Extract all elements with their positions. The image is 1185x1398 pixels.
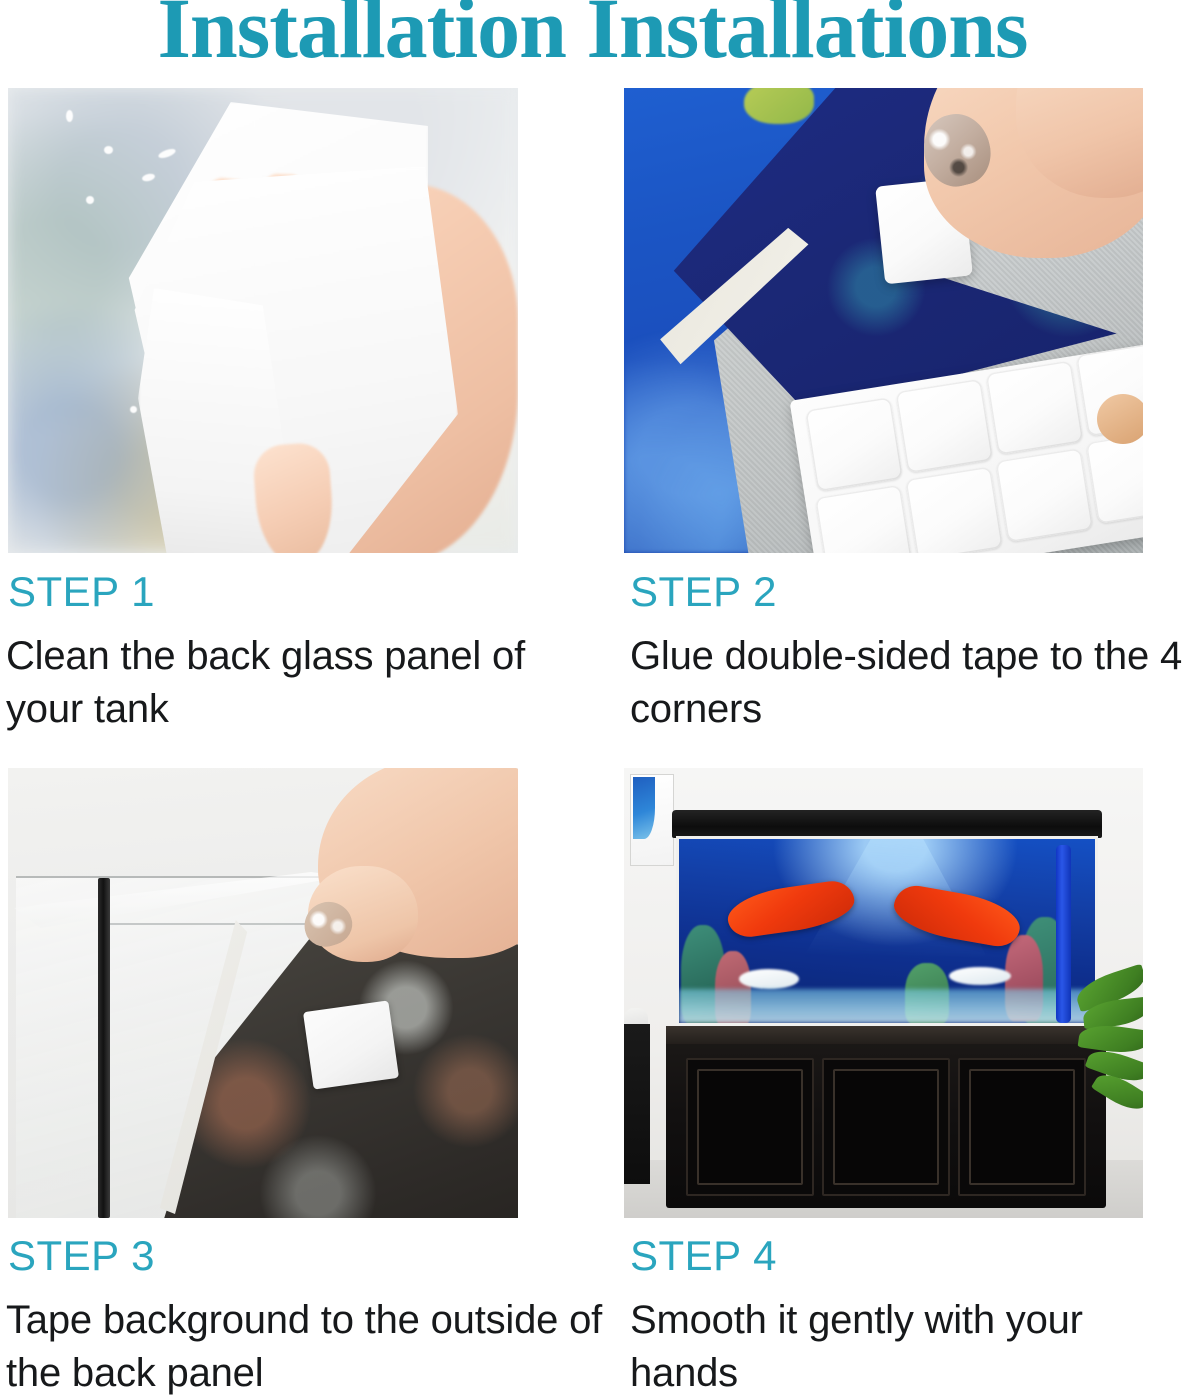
water-speck (66, 110, 73, 122)
cabinet-door-panel (697, 1069, 803, 1185)
step-1-image (8, 88, 518, 553)
step-1-description: Clean the back glass panel of your tank (6, 630, 606, 736)
adhesive-pad (905, 466, 1003, 553)
poster-fish-detail (744, 88, 814, 124)
step-2-image (624, 88, 1143, 553)
adhesive-pad (895, 379, 993, 473)
step-3-image (8, 768, 518, 1218)
wall-picture-frame (630, 774, 674, 866)
tank-corner-trim (98, 878, 110, 1218)
adhesive-pad (815, 485, 913, 553)
thumb (252, 441, 336, 553)
step-4-label: STEP 4 (630, 1232, 777, 1280)
side-furniture (624, 1024, 650, 1184)
water-speck (130, 406, 137, 413)
page-title: Installation Installations (0, 0, 1185, 78)
step-4-description: Smooth it gently with your hands (630, 1294, 1185, 1398)
glass-tank-inner-edge (108, 923, 308, 925)
step-1-label: STEP 1 (8, 568, 155, 616)
aquarium-hood (672, 810, 1102, 838)
cabinet-door-left[interactable] (686, 1058, 814, 1196)
aquarium-cabinet (666, 1026, 1106, 1208)
step-3-description: Tape background to the outside of the ba… (6, 1294, 606, 1398)
adhesive-pad (995, 448, 1093, 542)
cabinet-door-center[interactable] (822, 1058, 950, 1196)
aquarium-substrate (679, 989, 1095, 1023)
wall-picture-art (633, 777, 655, 839)
shell-right (949, 967, 1011, 985)
cabinet-door-panel (833, 1069, 939, 1185)
step-3-label: STEP 3 (8, 1232, 155, 1280)
double-sided-tape-square (303, 1000, 399, 1089)
installation-guide-page: Installation Installations STEP 1 Clean … (0, 0, 1185, 1398)
step-4-image (624, 768, 1143, 1218)
water-speck (86, 196, 94, 204)
shell-left (739, 969, 799, 989)
adhesive-pad (986, 360, 1084, 454)
aquarium-tank (676, 836, 1098, 1026)
water-speck (104, 146, 113, 154)
cabinet-top-trim (666, 1026, 1106, 1044)
house-plant (1059, 974, 1143, 1164)
fingertip (1097, 394, 1143, 444)
step-2-description: Glue double-sided tape to the 4 corners (630, 630, 1185, 736)
adhesive-pad (805, 397, 903, 491)
adhesive-pad (1086, 430, 1143, 524)
step-2-label: STEP 2 (630, 568, 777, 616)
